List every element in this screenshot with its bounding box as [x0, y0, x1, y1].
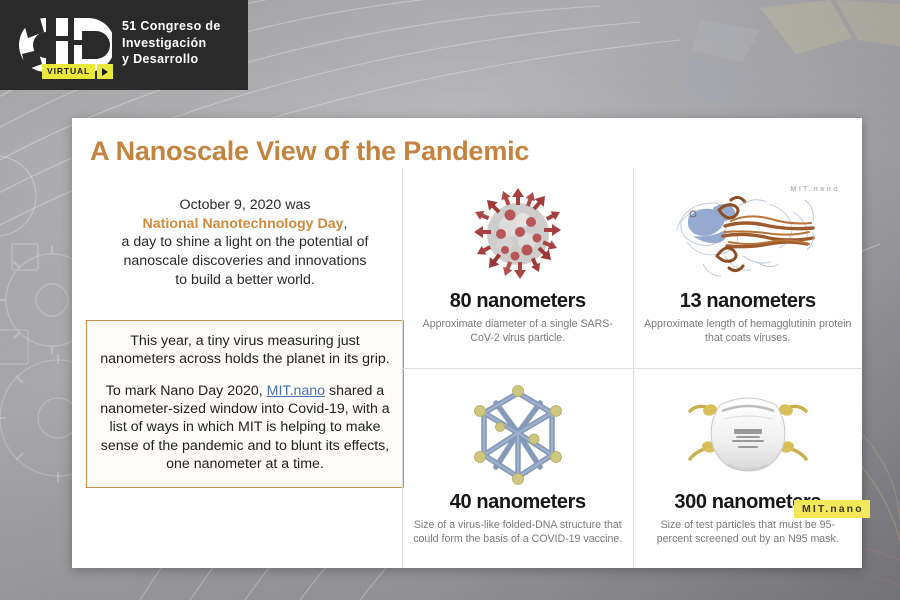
- value-hemagglutinin: 13 nanometers: [680, 290, 816, 313]
- screen-stage: VIRTUAL 51 Congreso de Investigación y D…: [0, 0, 900, 600]
- intro-line-4: nanoscale discoveries and innovations: [124, 253, 367, 269]
- grid-cell-sars-cov-2: 80 nanometers Approximate diameter of a …: [403, 168, 633, 368]
- grid-cell-folded-dna: 40 nanometers Size of a virus-like folde…: [403, 368, 633, 568]
- intro-highlight: National Nanotechnology Day: [143, 216, 344, 232]
- cid-logo-banner: VIRTUAL 51 Congreso de Investigación y D…: [0, 0, 248, 90]
- caption-sars-cov-2: Approximate diameter of a single SARS-Co…: [413, 318, 623, 345]
- congress-line-3: y Desarrollo: [122, 51, 221, 68]
- nanoscale-comparison-grid: MIT.nano: [402, 168, 862, 568]
- quote-p2-pre: To mark Nano Day 2020,: [106, 383, 267, 399]
- caption-folded-dna: Size of a virus-like folded-DNA structur…: [413, 519, 623, 546]
- quote-paragraph-1: This year, a tiny virus measuring just n…: [100, 332, 390, 369]
- value-folded-dna: 40 nanometers: [450, 491, 586, 514]
- grid-cell-n95-mask: 300 nanometers Size of test particles th…: [633, 368, 863, 568]
- intro-paragraph: October 9, 2020 was National Nanotechnol…: [86, 196, 404, 290]
- play-icon: [97, 64, 113, 79]
- grid-cell-hemagglutinin: 13 nanometers Approximate length of hema…: [633, 168, 863, 368]
- mit-nano-highlight-overlay: MIT.nano: [794, 500, 870, 518]
- intro-line-1: October 9, 2020 was: [180, 197, 311, 213]
- presentation-slide: A Nanoscale View of the Pandemic October…: [72, 118, 862, 568]
- value-sars-cov-2: 80 nanometers: [450, 290, 586, 313]
- congress-line-2: Investigación: [122, 35, 221, 52]
- intro-line-5: to build a better world.: [175, 272, 315, 288]
- n95-respirator-mask-image: [682, 381, 814, 489]
- virtual-label: VIRTUAL: [42, 64, 95, 79]
- slide-left-column: October 9, 2020 was National Nanotechnol…: [86, 196, 404, 488]
- congress-line-1: 51 Congreso de: [122, 18, 221, 35]
- dna-origami-cage-image: [462, 381, 574, 489]
- virtual-badge: VIRTUAL: [42, 64, 113, 79]
- intro-line-3: a day to shine a light on the potential …: [122, 234, 369, 250]
- protein-ribbon-structure-image: [673, 180, 823, 288]
- slide-title: A Nanoscale View of the Pandemic: [90, 136, 529, 167]
- caption-hemagglutinin: Approximate length of hemagglutinin prot…: [644, 318, 853, 345]
- coronavirus-particle-image: [465, 180, 571, 288]
- quote-callout-box: This year, a tiny virus measuring just n…: [86, 320, 404, 488]
- congress-title-block: 51 Congreso de Investigación y Desarroll…: [122, 18, 221, 72]
- quote-paragraph-2: To mark Nano Day 2020, MIT.nano shared a…: [100, 382, 390, 474]
- caption-n95-mask: Size of test particles that must be 95-p…: [644, 519, 853, 546]
- cid-logo-mark: VIRTUAL: [16, 14, 112, 76]
- mit-nano-link[interactable]: MIT.nano: [267, 383, 325, 399]
- intro-comma: ,: [344, 216, 348, 232]
